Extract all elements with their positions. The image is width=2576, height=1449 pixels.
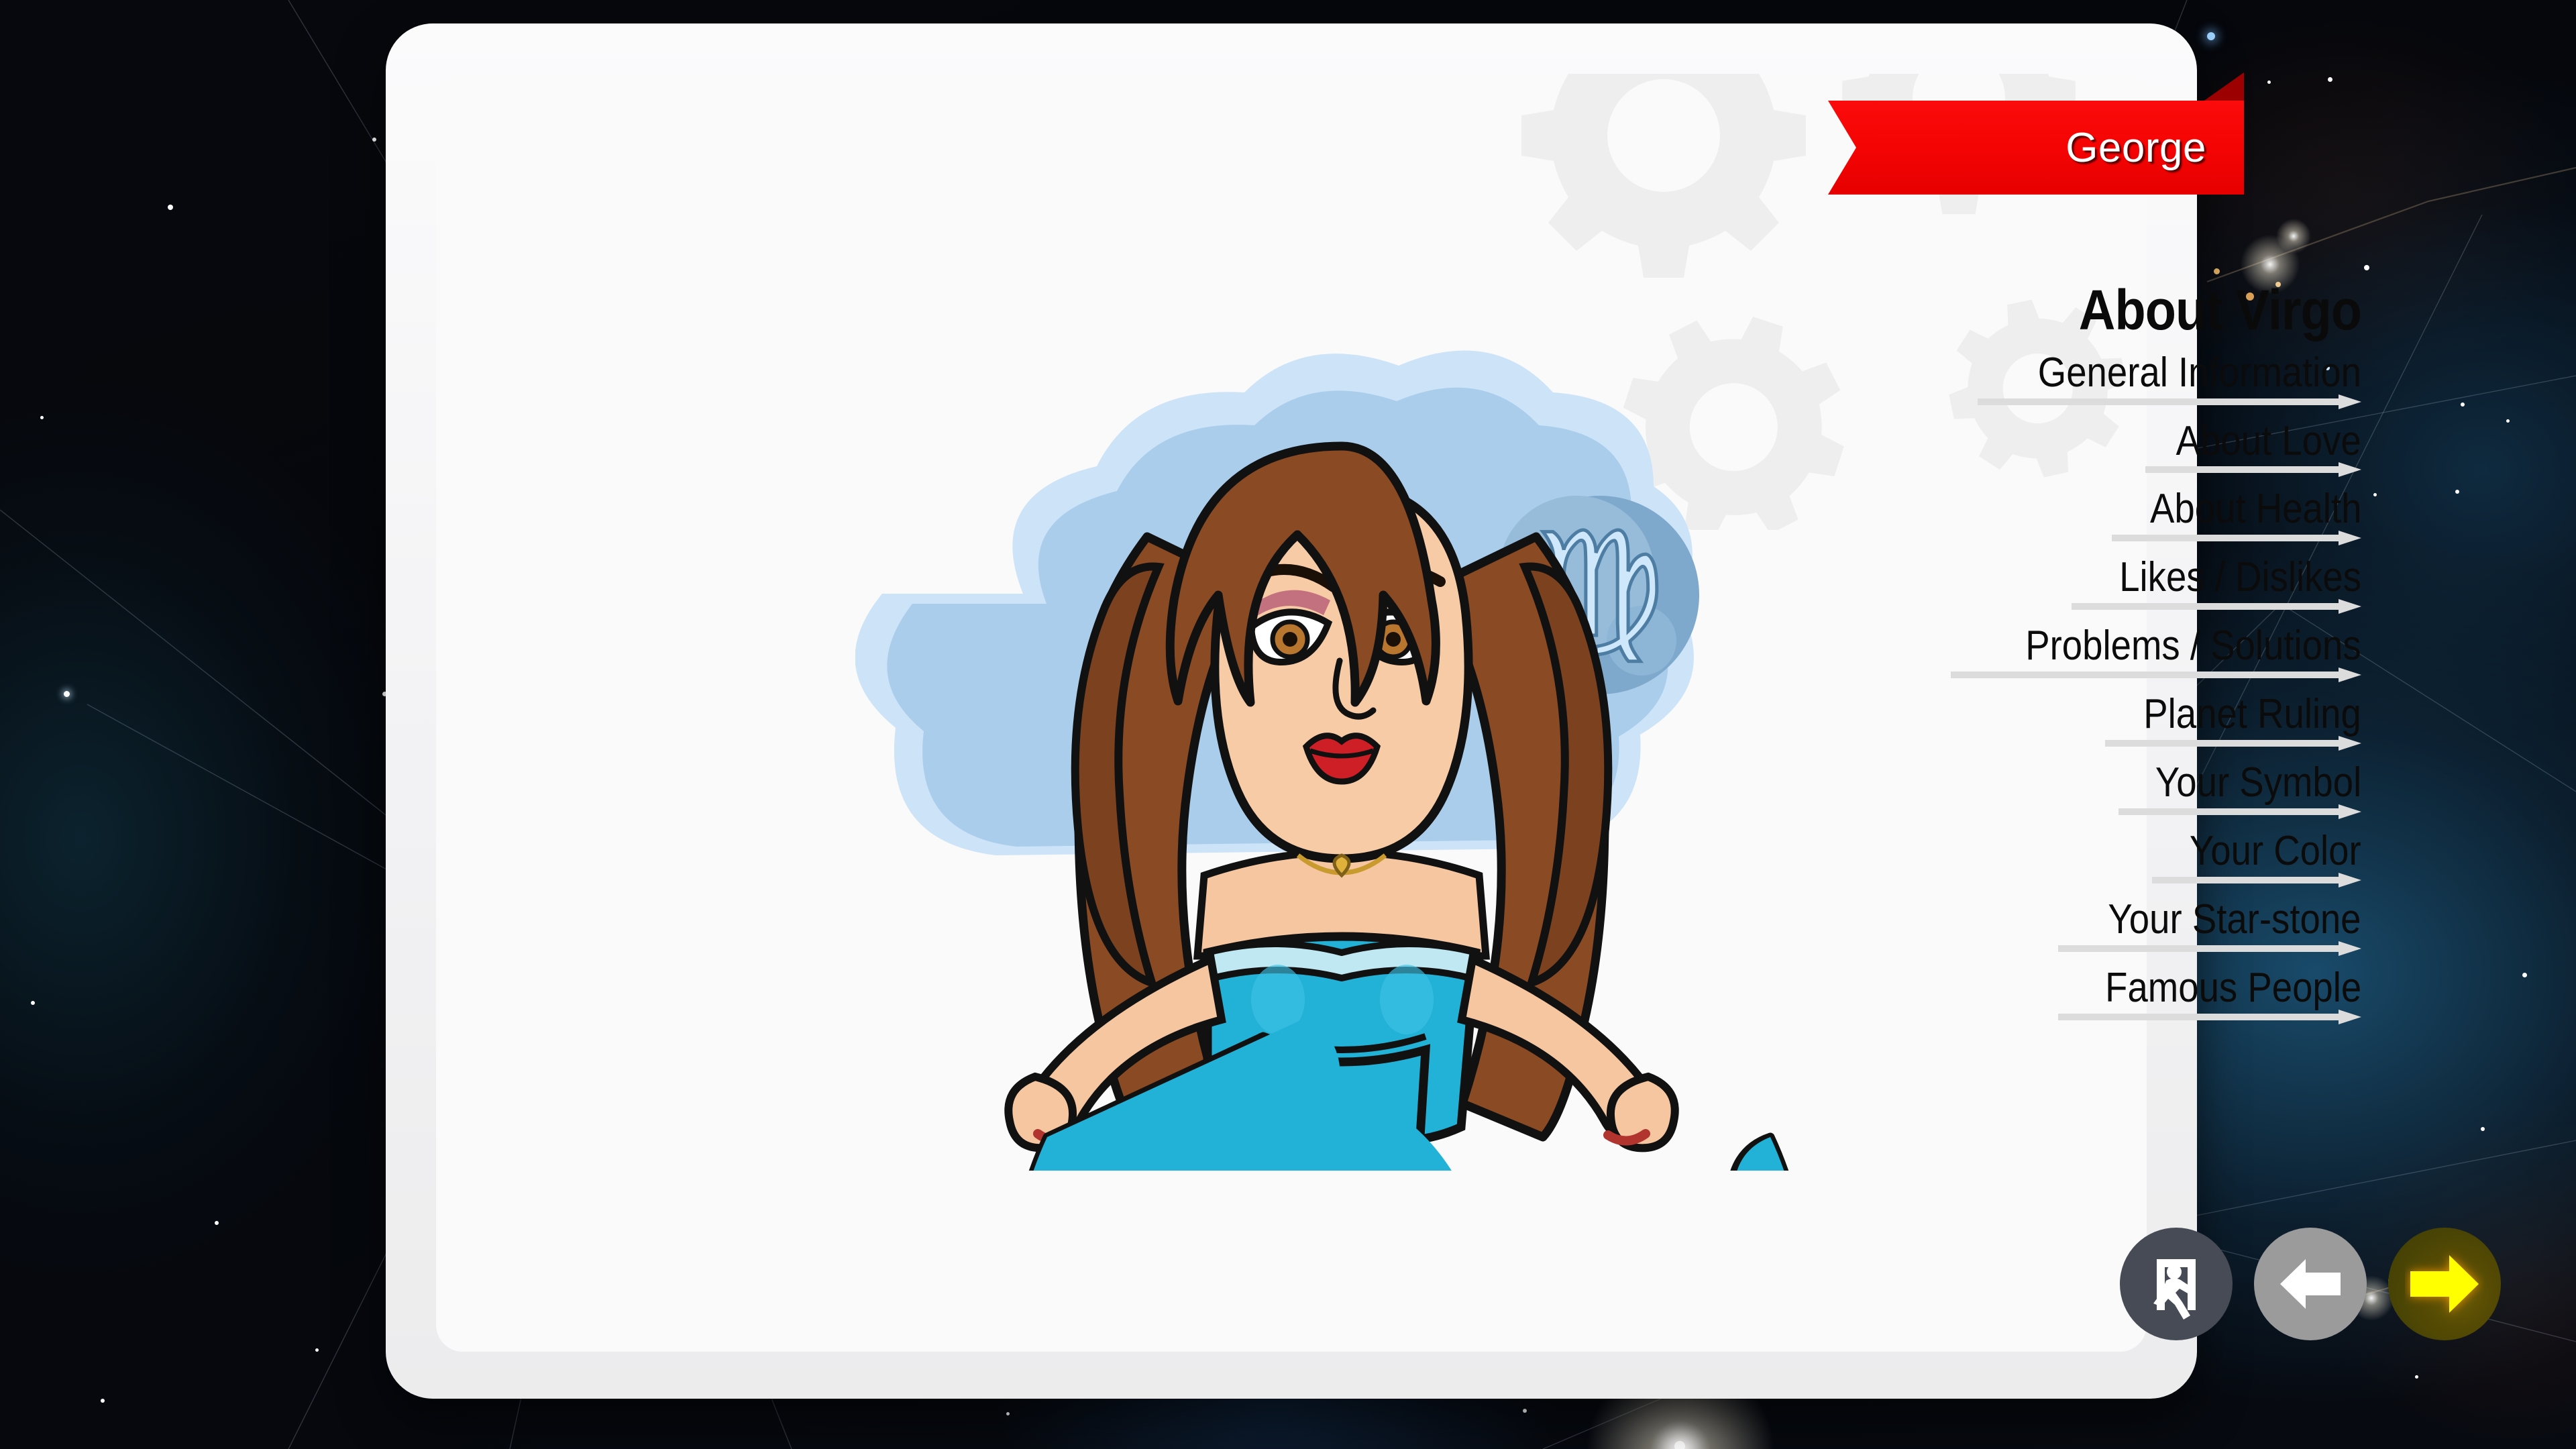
menu-item-label: Likes / Dislikes — [2119, 553, 2361, 602]
forward-button[interactable] — [2388, 1228, 2501, 1340]
arrow-left-icon — [2275, 1248, 2346, 1320]
menu-item-label: Planet Ruling — [2143, 690, 2361, 739]
menu-item-planet-ruling[interactable]: Planet Ruling — [1848, 690, 2361, 756]
menu-item-label: Your Star-stone — [2108, 896, 2361, 944]
menu-item-general-information[interactable]: General Information — [1848, 349, 2361, 415]
menu-item-problems-solutions[interactable]: Problems / Solutions — [1848, 622, 2361, 688]
menu-item-your-color[interactable]: Your Color — [1848, 827, 2361, 893]
main-card: ♍ — [386, 23, 2197, 1399]
menu-item-famous-people[interactable]: Famous People — [1848, 964, 2361, 1030]
exit-running-man-icon — [2139, 1247, 2213, 1321]
arrow-right-icon — [2405, 1244, 2484, 1324]
menu-item-label: Famous People — [2105, 964, 2361, 1012]
page-title: About Virgo — [1900, 282, 2362, 339]
menu-item-label: Your Color — [2190, 827, 2361, 875]
menu-column: About Virgo General Information About Lo… — [1848, 282, 2361, 1032]
menu-item-label: About Health — [2150, 485, 2361, 533]
user-name-ribbon[interactable]: George — [1828, 101, 2244, 195]
menu-item-label: General Information — [2038, 349, 2361, 397]
menu-item-about-love[interactable]: About Love — [1848, 417, 2361, 483]
back-button[interactable] — [2254, 1228, 2367, 1340]
exit-button[interactable] — [2120, 1228, 2233, 1340]
menu-item-likes-dislikes[interactable]: Likes / Dislikes — [1848, 553, 2361, 619]
virgo-character-illustration: ♍ — [855, 345, 1828, 1171]
menu-item-your-star-stone[interactable]: Your Star-stone — [1848, 896, 2361, 961]
menu-item-your-symbol[interactable]: Your Symbol — [1848, 759, 2361, 824]
ribbon-body: George — [1828, 101, 2244, 195]
menu-item-about-health[interactable]: About Health — [1848, 485, 2361, 551]
user-name-label: George — [2065, 124, 2244, 172]
navigation-buttons — [2120, 1228, 2501, 1340]
menu-item-label: Your Symbol — [2155, 759, 2361, 807]
menu-item-label: Problems / Solutions — [2026, 622, 2361, 670]
menu-item-label: About Love — [2176, 417, 2361, 466]
